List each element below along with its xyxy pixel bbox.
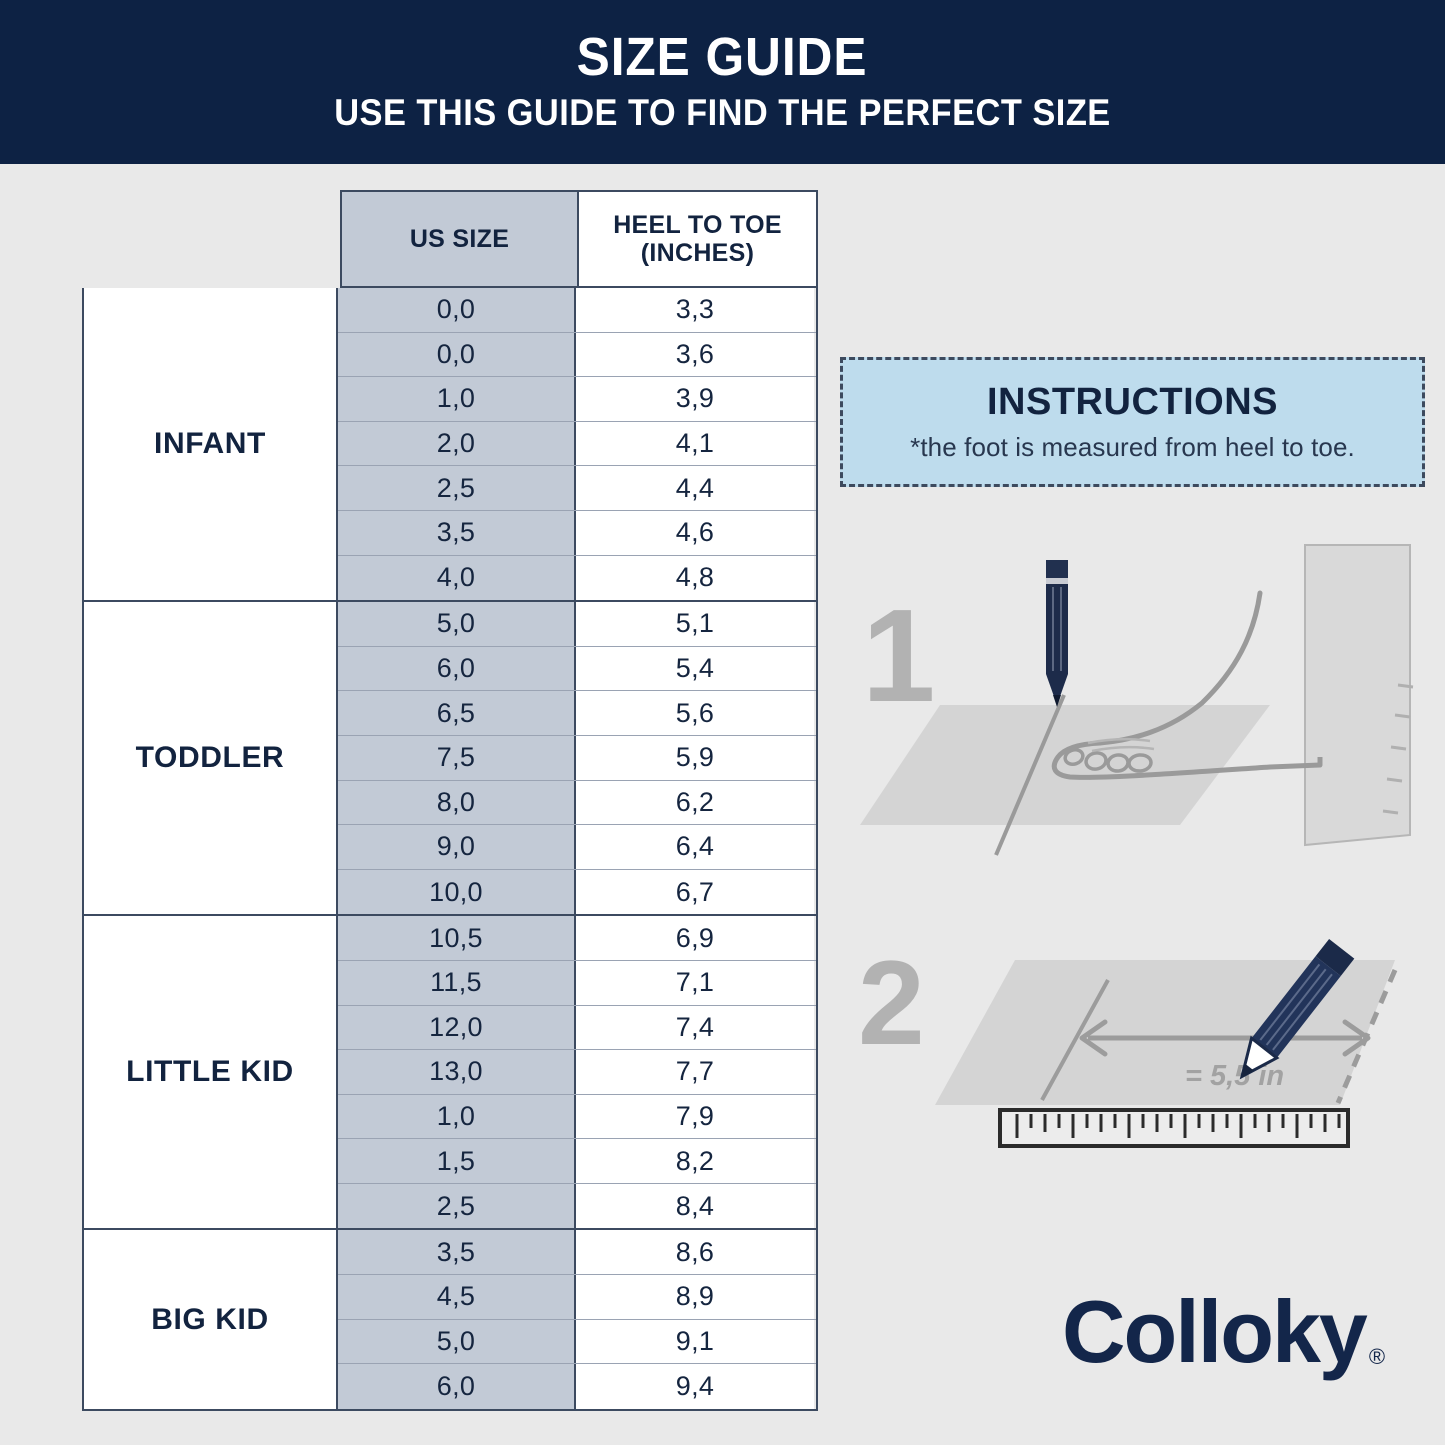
instructions-title: INSTRUCTIONS — [987, 381, 1278, 424]
cell-us-size: 10,5 — [338, 916, 576, 960]
table-row: 2,54,4 — [338, 466, 816, 511]
cell-heel-to-toe: 6,2 — [576, 781, 814, 825]
page-header-banner: SIZE GUIDE USE THIS GUIDE TO FIND THE PE… — [0, 0, 1445, 164]
table-group: TODDLER5,05,16,05,46,55,67,55,98,06,29,0… — [84, 602, 816, 916]
cell-us-size: 3,5 — [338, 1230, 576, 1274]
cell-us-size: 2,0 — [338, 422, 576, 466]
cell-heel-to-toe: 5,1 — [576, 602, 814, 646]
table-row: 7,55,9 — [338, 736, 816, 781]
table-header-row: US SIZE HEEL TO TOE (INCHES) — [340, 190, 818, 288]
step-1-illustration: 1 — [850, 535, 1440, 905]
cell-heel-to-toe: 3,6 — [576, 333, 814, 377]
cell-us-size: 7,5 — [338, 736, 576, 780]
pencil-icon — [1046, 560, 1068, 707]
cell-us-size: 13,0 — [338, 1050, 576, 1094]
table-group-rows: 5,05,16,05,46,55,67,55,98,06,29,06,410,0… — [338, 602, 816, 914]
cell-us-size: 6,0 — [338, 647, 576, 691]
table-row: 9,06,4 — [338, 825, 816, 870]
table-group-rows: 10,56,911,57,112,07,413,07,71,07,91,58,2… — [338, 916, 816, 1228]
step-2-illustration: 2 = 5,5 in — [850, 925, 1440, 1185]
table-group: BIG KID3,58,64,58,95,09,16,09,4 — [84, 1230, 816, 1408]
cell-heel-to-toe: 4,8 — [576, 556, 814, 601]
cell-heel-to-toe: 5,6 — [576, 691, 814, 735]
cell-us-size: 0,0 — [338, 333, 576, 377]
table-row: 11,57,1 — [338, 961, 816, 1006]
table-row: 0,03,3 — [338, 288, 816, 333]
page-title: SIZE GUIDE — [577, 29, 868, 86]
table-row: 4,58,9 — [338, 1275, 816, 1320]
cell-heel-to-toe: 4,4 — [576, 466, 814, 510]
cell-heel-to-toe: 8,4 — [576, 1184, 814, 1229]
table-row: 13,07,7 — [338, 1050, 816, 1095]
table-row: 3,58,6 — [338, 1230, 816, 1275]
cell-us-size: 10,0 — [338, 870, 576, 915]
cell-us-size: 8,0 — [338, 781, 576, 825]
table-row: 0,03,6 — [338, 333, 816, 378]
cell-heel-to-toe: 6,9 — [576, 916, 814, 960]
table-row: 3,54,6 — [338, 511, 816, 556]
cell-heel-to-toe: 5,4 — [576, 647, 814, 691]
table-row: 6,55,6 — [338, 691, 816, 736]
registered-trademark-icon: ® — [1369, 1344, 1385, 1370]
table-body: INFANT0,03,30,03,61,03,92,04,12,54,43,54… — [82, 288, 818, 1411]
cell-us-size: 4,5 — [338, 1275, 576, 1319]
cell-heel-to-toe: 7,1 — [576, 961, 814, 1005]
paper-measure-ruler-icon: = 5,5 in — [850, 925, 1440, 1185]
cell-us-size: 1,5 — [338, 1139, 576, 1183]
cell-us-size: 6,5 — [338, 691, 576, 735]
table-group-rows: 0,03,30,03,61,03,92,04,12,54,43,54,64,04… — [338, 288, 816, 600]
cell-us-size: 12,0 — [338, 1006, 576, 1050]
table-row: 2,04,1 — [338, 422, 816, 467]
measurement-label: = 5,5 in — [1185, 1060, 1284, 1092]
table-row: 1,07,9 — [338, 1095, 816, 1140]
table-row: 10,56,9 — [338, 916, 816, 961]
cell-heel-to-toe: 8,2 — [576, 1139, 814, 1183]
table-row: 12,07,4 — [338, 1006, 816, 1051]
cell-heel-to-toe: 7,4 — [576, 1006, 814, 1050]
cell-heel-to-toe: 7,9 — [576, 1095, 814, 1139]
cell-us-size: 1,0 — [338, 1095, 576, 1139]
cell-us-size: 9,0 — [338, 825, 576, 869]
table-row: 4,04,8 — [338, 556, 816, 601]
cell-us-size: 0,0 — [338, 288, 576, 332]
instructions-note: *the foot is measured from heel to toe. — [910, 432, 1355, 463]
table-group: LITTLE KID10,56,911,57,112,07,413,07,71,… — [84, 916, 816, 1230]
table-row: 5,05,1 — [338, 602, 816, 647]
table-row: 6,09,4 — [338, 1364, 816, 1409]
cell-us-size: 3,5 — [338, 511, 576, 555]
cell-heel-to-toe: 4,1 — [576, 422, 814, 466]
instructions-box: INSTRUCTIONS *the foot is measured from … — [840, 357, 1425, 487]
column-header-heel-to-toe-line1: HEEL TO TOE — [613, 211, 782, 239]
table-group: INFANT0,03,30,03,61,03,92,04,12,54,43,54… — [84, 288, 816, 602]
table-group-rows: 3,58,64,58,95,09,16,09,4 — [338, 1230, 816, 1408]
ruler-icon — [1000, 1110, 1348, 1146]
table-group-label: TODDLER — [84, 602, 338, 914]
cell-us-size: 1,0 — [338, 377, 576, 421]
cell-us-size: 5,0 — [338, 1320, 576, 1364]
table-row: 2,58,4 — [338, 1184, 816, 1229]
table-group-label: INFANT — [84, 288, 338, 600]
cell-us-size: 5,0 — [338, 602, 576, 646]
cell-us-size: 4,0 — [338, 556, 576, 601]
table-row: 10,06,7 — [338, 870, 816, 915]
column-header-us-size: US SIZE — [342, 192, 579, 286]
cell-heel-to-toe: 6,7 — [576, 870, 814, 915]
table-row: 1,58,2 — [338, 1139, 816, 1184]
brand-logo-text: Colloky — [1062, 1288, 1366, 1376]
column-header-heel-to-toe-line2: (INCHES) — [613, 239, 782, 267]
cell-heel-to-toe: 5,9 — [576, 736, 814, 780]
cell-us-size: 2,5 — [338, 1184, 576, 1229]
foot-pencil-paper-icon — [850, 535, 1440, 905]
table-group-label: BIG KID — [84, 1230, 338, 1408]
table-group-label: LITTLE KID — [84, 916, 338, 1228]
column-header-heel-to-toe: HEEL TO TOE (INCHES) — [579, 192, 816, 286]
table-row: 8,06,2 — [338, 781, 816, 826]
brand-logo: Colloky ® — [1062, 1288, 1385, 1376]
cell-heel-to-toe: 6,4 — [576, 825, 814, 869]
cell-us-size: 11,5 — [338, 961, 576, 1005]
cell-heel-to-toe: 9,4 — [576, 1364, 814, 1409]
size-chart-table: US SIZE HEEL TO TOE (INCHES) INFANT0,03,… — [82, 190, 818, 1411]
cell-heel-to-toe: 8,6 — [576, 1230, 814, 1274]
cell-heel-to-toe: 3,3 — [576, 288, 814, 332]
cell-heel-to-toe: 3,9 — [576, 377, 814, 421]
table-row: 6,05,4 — [338, 647, 816, 692]
cell-heel-to-toe: 7,7 — [576, 1050, 814, 1094]
cell-heel-to-toe: 4,6 — [576, 511, 814, 555]
cell-us-size: 6,0 — [338, 1364, 576, 1409]
cell-heel-to-toe: 9,1 — [576, 1320, 814, 1364]
cell-heel-to-toe: 8,9 — [576, 1275, 814, 1319]
cell-us-size: 2,5 — [338, 466, 576, 510]
page-subtitle: USE THIS GUIDE TO FIND THE PERFECT SIZE — [334, 92, 1111, 135]
table-row: 5,09,1 — [338, 1320, 816, 1365]
table-row: 1,03,9 — [338, 377, 816, 422]
